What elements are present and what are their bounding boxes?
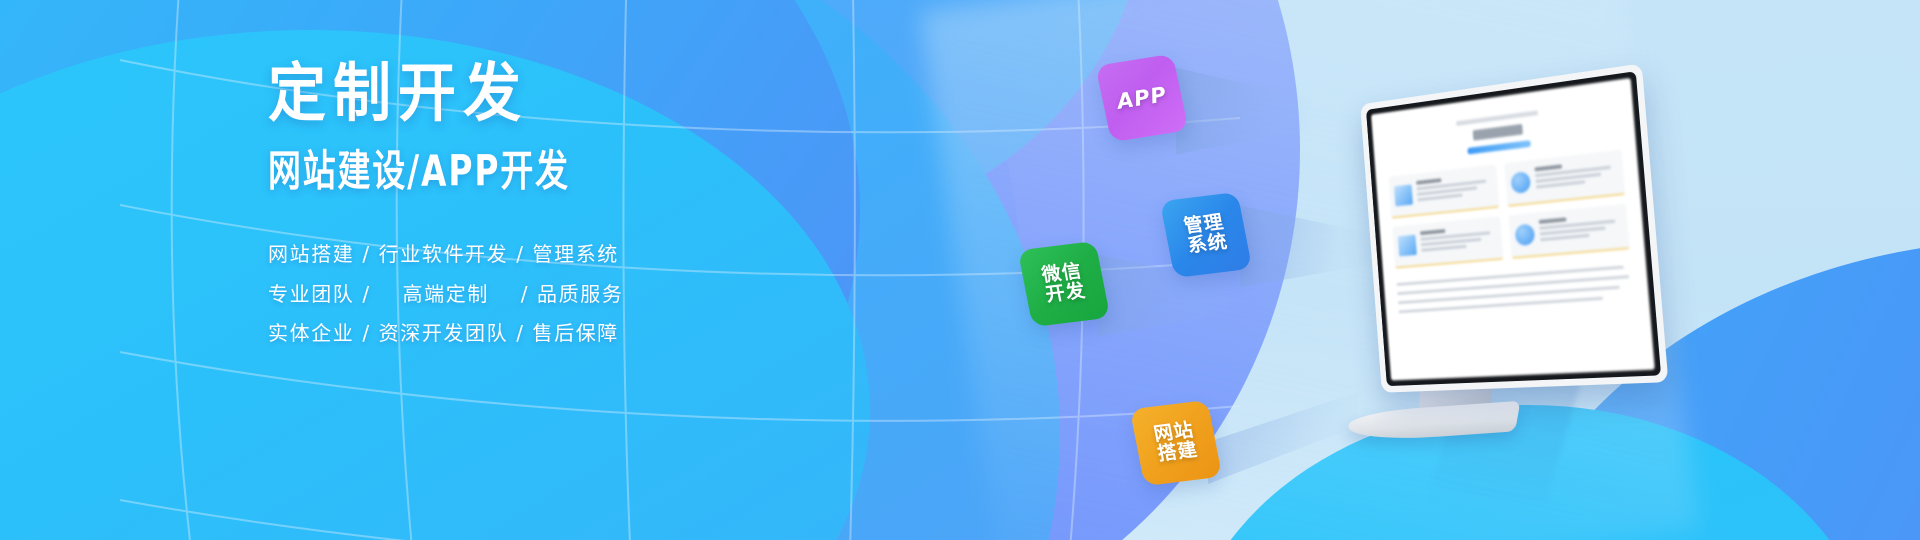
mockup-feature-card <box>1388 164 1499 218</box>
mockup-feature-card <box>1392 216 1503 268</box>
mockup-card-title-bar <box>1534 164 1562 171</box>
mockup-card-line <box>1421 245 1466 252</box>
service-card-website-build-label-2: 搭建 <box>1156 441 1200 465</box>
monitor-bezel <box>1360 63 1668 392</box>
screen-webpage-mockup <box>1371 78 1649 314</box>
mockup-accent-rule <box>1467 140 1531 154</box>
feature-list: 网站搭建 / 行业软件开发 / 管理系统 专业团队 / 高端定制 / 品质服务 … <box>268 235 908 353</box>
monitor <box>1360 63 1668 392</box>
feature-line: 专业团队 / 高端定制 / 品质服务 <box>268 275 908 314</box>
feature-line: 网站搭建 / 行业软件开发 / 管理系统 <box>268 235 908 274</box>
mockup-card-text <box>1416 171 1494 209</box>
mockup-paragraph-line <box>1397 266 1624 286</box>
mockup-card-icon <box>1510 171 1531 194</box>
mockup-paragraph-line <box>1398 286 1620 304</box>
headline-block: 定制开发 网站建设/APP开发 网站搭建 / 行业软件开发 / 管理系统 专业团… <box>268 58 908 353</box>
service-card-website-build[interactable]: 网站 搭建 <box>1130 400 1222 486</box>
banner-title: 定制开发 <box>268 58 908 129</box>
mockup-card-grid <box>1388 150 1629 269</box>
mockup-feature-card <box>1504 150 1625 207</box>
mockup-eyebrow <box>1456 110 1538 126</box>
mockup-card-text <box>1534 156 1619 196</box>
service-card-app-label: APP <box>1115 83 1169 112</box>
mockup-feature-card <box>1508 204 1629 259</box>
feature-line: 实体企业 / 资深开发团队 / 售后保障 <box>268 314 908 353</box>
mockup-card-title-bar <box>1416 178 1441 185</box>
mockup-heading <box>1473 124 1523 141</box>
service-card-app[interactable]: APP <box>1095 54 1188 143</box>
promo-banner: 定制开发 网站建设/APP开发 网站搭建 / 行业软件开发 / 管理系统 专业团… <box>0 0 1920 540</box>
mockup-paragraph <box>1397 265 1634 313</box>
mockup-card-icon <box>1514 223 1535 246</box>
mockup-card-icon <box>1398 235 1417 257</box>
mockup-card-line <box>1540 234 1589 241</box>
service-card-wechat-development[interactable]: 微信 开发 <box>1018 241 1110 327</box>
mockup-card-text <box>1539 210 1624 249</box>
mockup-paragraph-line <box>1397 275 1629 295</box>
service-card-wechat-development-label-2: 开发 <box>1044 282 1088 306</box>
mockup-card-title-bar <box>1420 229 1445 235</box>
monitor-screen <box>1371 78 1655 381</box>
banner-subtitle: 网站建设/APP开发 <box>268 149 870 196</box>
monitor-inner-frame <box>1366 71 1661 386</box>
mockup-card-icon <box>1394 184 1413 206</box>
service-card-management-system[interactable]: 管理 系统 <box>1160 192 1252 278</box>
mockup-card-title-bar <box>1539 217 1567 223</box>
service-card-management-system-label-2: 系统 <box>1186 233 1230 257</box>
mockup-card-text <box>1420 222 1498 259</box>
